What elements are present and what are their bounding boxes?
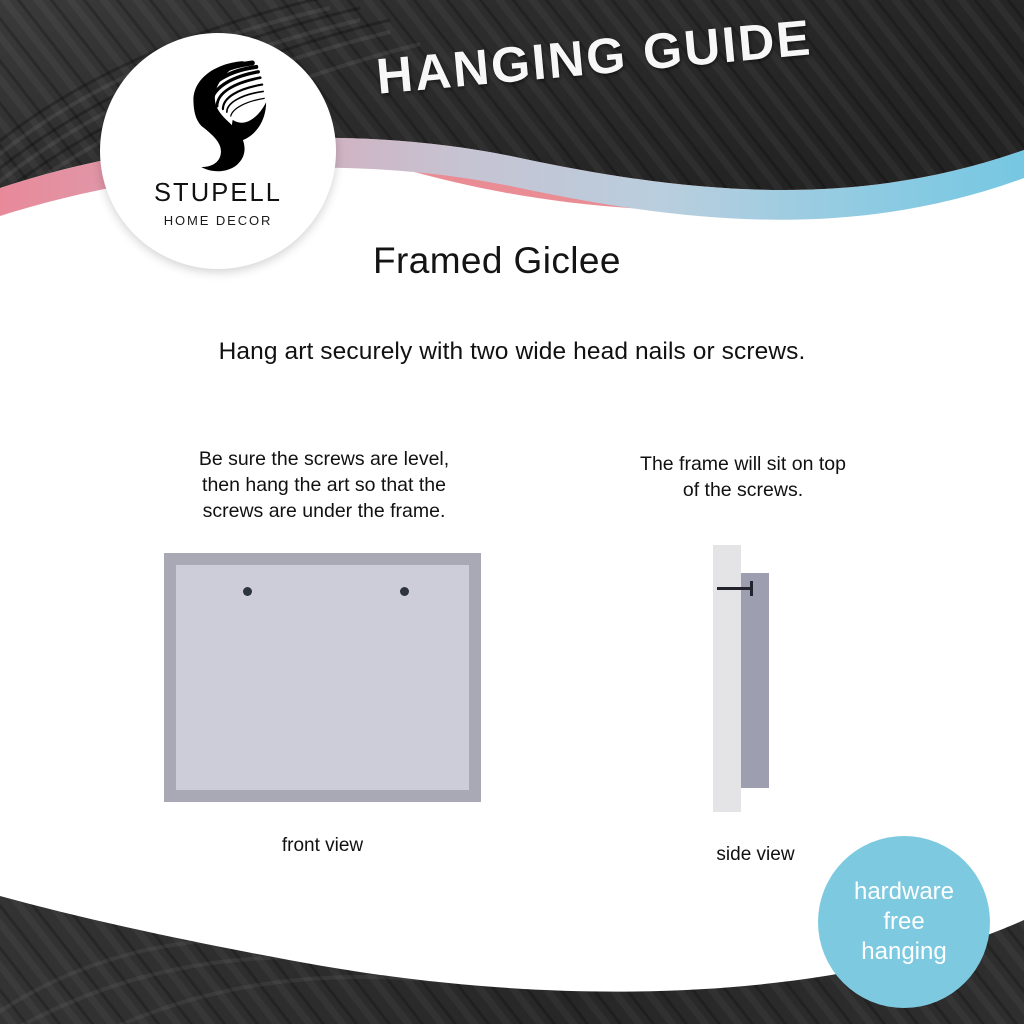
side-view-wall <box>713 545 741 812</box>
screw-dot-right-icon <box>400 587 409 596</box>
front-view-artwork-panel <box>176 565 469 790</box>
product-type-label: Framed Giclee <box>373 240 621 282</box>
page-title: HANGING GUIDE <box>374 8 814 105</box>
primary-instruction: Hang art securely with two wide head nai… <box>0 338 1024 366</box>
badge-line-1: hardware <box>854 877 954 907</box>
front-view-label: front view <box>164 835 481 857</box>
nail-head-icon <box>750 581 753 596</box>
logo-tagline: HOME DECOR <box>164 214 273 227</box>
front-view-caption-line-1: Be sure the screws are level, <box>164 446 484 472</box>
side-view-label: side view <box>668 844 843 866</box>
front-view-frame-diagram <box>164 553 481 802</box>
side-view-caption: The frame will sit on top of the screws. <box>598 451 888 503</box>
badge-line-3: hanging <box>861 937 946 967</box>
brand-logo-badge: STUPELL HOME DECOR <box>100 33 336 269</box>
nail-shaft-icon <box>717 587 753 590</box>
logo-wordmark: STUPELL <box>154 181 282 207</box>
front-view-caption-line-2: then hang the art so that the <box>164 472 484 498</box>
side-view-frame-diagram <box>700 545 810 820</box>
front-view-caption-line-3: screws are under the frame. <box>164 498 484 524</box>
screw-dot-left-icon <box>243 587 252 596</box>
front-view-caption: Be sure the screws are level, then hang … <box>164 446 484 524</box>
stupell-swoosh-s-icon <box>164 57 272 175</box>
badge-line-2: free <box>883 907 924 937</box>
side-view-caption-line-1: The frame will sit on top <box>598 451 888 477</box>
hanging-guide-page: STUPELL HOME DECOR HANGING GUIDE Framed … <box>0 0 1024 1024</box>
side-view-caption-line-2: of the screws. <box>598 477 888 503</box>
side-view-frame <box>741 573 769 788</box>
hardware-free-hanging-badge: hardware free hanging <box>818 836 990 1008</box>
